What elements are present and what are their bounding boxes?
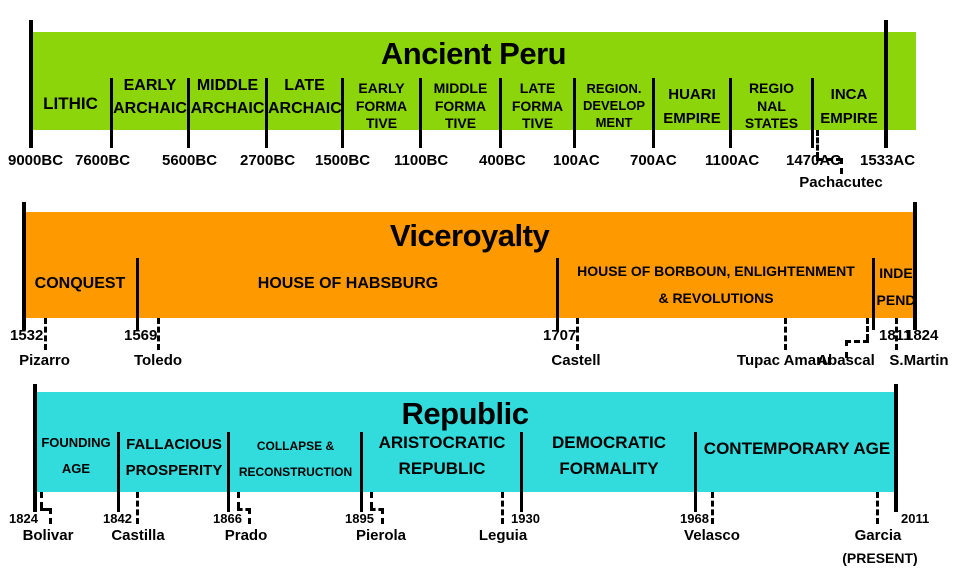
person-smartin: S.Martin bbox=[880, 352, 958, 369]
year-1930: 1930 bbox=[511, 511, 540, 526]
republic-divider-1930 bbox=[520, 432, 523, 512]
year-1569: 1569 bbox=[124, 327, 157, 344]
year-1895: 1895 bbox=[345, 511, 374, 526]
person-castilla: Castilla bbox=[96, 527, 180, 544]
person-prado: Prado bbox=[208, 527, 284, 544]
viceroyalty-divider-1707 bbox=[556, 258, 559, 330]
year-1866: 1866 bbox=[213, 511, 242, 526]
period-contemporary: CONTEMPORARY AGE bbox=[698, 437, 896, 462]
prado-leader-v1 bbox=[237, 492, 240, 508]
period-regional-dev: REGION. DEVELOP MENT bbox=[576, 80, 652, 131]
person-garcia: Garcia bbox=[838, 527, 918, 544]
smartin-leader bbox=[895, 318, 898, 350]
person-leguia: Leguia bbox=[465, 527, 541, 544]
year-9000BC: 9000BC bbox=[8, 152, 63, 169]
period-lithic: LITHIC bbox=[31, 92, 110, 117]
year-1532: 1532 bbox=[10, 327, 43, 344]
period-early-formative: EARLY FORMA TIVE bbox=[344, 80, 419, 133]
castilla-leader bbox=[136, 492, 139, 524]
ancient-tick-start bbox=[29, 20, 33, 148]
period-early-archaic: EARLY ARCHAIC bbox=[113, 74, 187, 120]
pierola-leader-v1 bbox=[370, 492, 373, 508]
republic-divider-1866 bbox=[227, 432, 230, 512]
year-1824: 1824 bbox=[905, 327, 938, 344]
viceroyalty-divider-1811 bbox=[872, 258, 875, 330]
pizarro-leader bbox=[44, 318, 47, 350]
period-founding-age: FOUNDING AGE bbox=[35, 430, 117, 482]
period-late-archaic: LATE ARCHAIC bbox=[268, 74, 341, 120]
period-regional-states: REGIO NAL STATES bbox=[732, 80, 811, 133]
abascal-leader-h bbox=[845, 340, 869, 343]
period-aristocratic: ARISTOCRATIC REPUBLIC bbox=[364, 430, 520, 483]
year-2700BC: 2700BC bbox=[240, 152, 295, 169]
castell-leader bbox=[576, 318, 579, 350]
period-habsburg: HOUSE OF HABSBURG bbox=[140, 272, 556, 295]
pachacutec-leader-v1 bbox=[816, 130, 819, 158]
viceroyalty-tick-start bbox=[22, 202, 26, 330]
year-7600BC: 7600BC bbox=[75, 152, 130, 169]
pachacutec-leader-h bbox=[816, 158, 842, 161]
person-toledo: Toledo bbox=[116, 352, 200, 369]
period-huari-empire: HUARI EMPIRE bbox=[655, 83, 729, 131]
garcia-leader bbox=[876, 492, 879, 524]
person-garcia-note: (PRESENT) bbox=[832, 550, 928, 566]
year-1842: 1842 bbox=[103, 511, 132, 526]
period-late-formative: LATE FORMA TIVE bbox=[502, 80, 573, 133]
pierola-leader-v2 bbox=[381, 508, 384, 524]
viceroyalty-divider-1569 bbox=[136, 258, 139, 330]
person-velasco: Velasco bbox=[669, 527, 755, 544]
period-middle-formative: MIDDLE FORMA TIVE bbox=[422, 80, 499, 133]
pachacutec-leader-v2 bbox=[840, 158, 843, 174]
person-bolivar: Bolivar bbox=[2, 527, 94, 544]
year-400BC: 400BC bbox=[479, 152, 526, 169]
republic-heading: Republic bbox=[34, 398, 896, 430]
tupac-amaru-leader bbox=[784, 318, 787, 350]
person-garcia-name: Garcia bbox=[855, 527, 902, 544]
leguia-leader bbox=[501, 492, 504, 524]
republic-divider-1842 bbox=[117, 432, 120, 512]
period-middle-archaic: MIDDLE ARCHAIC bbox=[190, 74, 265, 120]
toledo-leader bbox=[157, 318, 160, 350]
prado-leader-v2 bbox=[248, 508, 251, 524]
period-inca-empire: INCA EMPIRE bbox=[814, 83, 884, 131]
velasco-leader bbox=[711, 492, 714, 524]
period-collapse: COLLAPSE & RECONSTRUCTION bbox=[231, 434, 360, 486]
timeline-canvas: Ancient Peru LITHIC EARLY ARCHAIC MIDDLE… bbox=[0, 0, 960, 578]
republic-divider-1968 bbox=[694, 432, 697, 512]
person-pierola: Pierola bbox=[340, 527, 422, 544]
period-independence: INDE PEND bbox=[876, 260, 916, 315]
ancient-peru-heading: Ancient Peru bbox=[31, 38, 916, 70]
year-100AC: 100AC bbox=[553, 152, 600, 169]
year-1968: 1968 bbox=[680, 511, 709, 526]
person-castell: Castell bbox=[533, 352, 619, 369]
bolivar-leader-v2 bbox=[49, 508, 52, 524]
period-borboun: HOUSE OF BORBOUN, ENLIGHTENMENT & REVOLU… bbox=[560, 258, 872, 311]
period-fallacious: FALLACIOUS PROSPERITY bbox=[121, 432, 227, 484]
period-democratic: DEMOCRATIC FORMALITY bbox=[524, 430, 694, 483]
republic-divider-1895 bbox=[360, 432, 363, 512]
abascal-leader-v1 bbox=[866, 318, 869, 340]
person-pizarro: Pizarro bbox=[2, 352, 87, 369]
year-1500BC: 1500BC bbox=[315, 152, 370, 169]
year-5600BC: 5600BC bbox=[162, 152, 217, 169]
year-1100AC: 1100AC bbox=[705, 152, 759, 169]
person-pachacutec: Pachacutec bbox=[782, 174, 900, 191]
person-abascal: Abascal bbox=[806, 352, 886, 369]
year-2011: 2011 bbox=[901, 511, 929, 526]
year-1707: 1707 bbox=[543, 327, 576, 344]
viceroyalty-heading: Viceroyalty bbox=[23, 220, 916, 252]
ancient-tick-end bbox=[884, 20, 888, 148]
year-1824: 1824 bbox=[9, 511, 38, 526]
period-conquest: CONQUEST bbox=[24, 272, 136, 295]
year-700AC: 700AC bbox=[630, 152, 677, 169]
year-1100BC: 1100BC bbox=[394, 152, 448, 169]
bolivar-leader-v1 bbox=[40, 492, 43, 508]
year-1533AC: 1533AC bbox=[860, 152, 915, 169]
